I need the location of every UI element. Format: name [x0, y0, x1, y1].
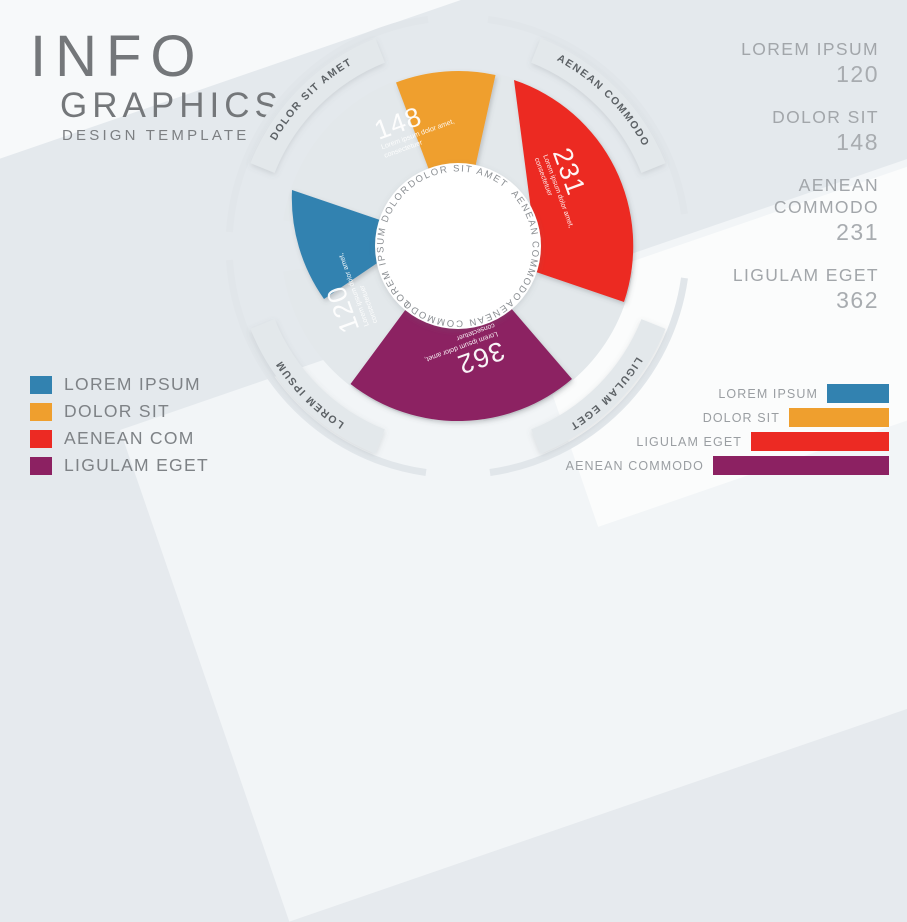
- value-name: LOREM IPSUM: [664, 38, 879, 60]
- bar-legend-label: AENEAN COMMODO: [566, 459, 704, 473]
- bar-legend: LOREM IPSUM DOLOR SIT LIGULAM EGET AENEA…: [599, 384, 889, 480]
- value-item-dolor-sit: DOLOR SIT 148: [664, 106, 879, 156]
- bar-legend-item-lorem-ipsum[interactable]: LOREM IPSUM: [599, 384, 889, 403]
- infographic-canvas: INFO GRAPHICS DESIGN TEMPLATE: [0, 0, 907, 500]
- value-list: LOREM IPSUM 120 DOLOR SIT 148 AENEAN COM…: [664, 38, 879, 332]
- legend-swatch-blue: [30, 376, 52, 394]
- bar-legend-bar-red: [751, 432, 889, 451]
- value-name: DOLOR SIT: [664, 106, 879, 128]
- legend-label: AENEAN COM: [64, 428, 195, 449]
- value-number: 148: [664, 128, 879, 156]
- legend-label: DOLOR SIT: [64, 401, 170, 422]
- bar-legend-label: LIGULAM EGET: [636, 435, 742, 449]
- value-item-aenean-commodo: AENEAN COMMODO 231: [664, 174, 879, 246]
- bar-legend-bar-orange: [789, 408, 889, 427]
- legend-item-aenean-com[interactable]: AENEAN COM: [30, 428, 209, 449]
- bar-legend-item-aenean-commodo[interactable]: AENEAN COMMODO: [599, 456, 889, 475]
- bar-legend-label: DOLOR SIT: [703, 411, 780, 425]
- legend-label: LIGULAM EGET: [64, 455, 209, 476]
- bar-legend-bar-blue: [827, 384, 889, 403]
- legend-swatch-purple: [30, 457, 52, 475]
- bar-legend-item-dolor-sit[interactable]: DOLOR SIT: [599, 408, 889, 427]
- legend-swatch-red: [30, 430, 52, 448]
- legend: LOREM IPSUM DOLOR SIT AENEAN COM LIGULAM…: [30, 374, 209, 482]
- legend-label: LOREM IPSUM: [64, 374, 201, 395]
- bar-legend-item-ligulam-eget[interactable]: LIGULAM EGET: [599, 432, 889, 451]
- legend-swatch-orange: [30, 403, 52, 421]
- value-name: LIGULAM EGET: [664, 264, 879, 286]
- legend-item-lorem-ipsum[interactable]: LOREM IPSUM: [30, 374, 209, 395]
- legend-item-ligulam-eget[interactable]: LIGULAM EGET: [30, 455, 209, 476]
- legend-item-dolor-sit[interactable]: DOLOR SIT: [30, 401, 209, 422]
- bar-legend-label: LOREM IPSUM: [718, 387, 818, 401]
- value-name: AENEAN: [664, 174, 879, 196]
- value-number: 362: [664, 286, 879, 314]
- value-number: 231: [664, 218, 879, 246]
- value-item-ligulam-eget: LIGULAM EGET 362: [664, 264, 879, 314]
- value-item-lorem-ipsum: LOREM IPSUM 120: [664, 38, 879, 88]
- value-name-line2: COMMODO: [664, 196, 879, 218]
- value-number: 120: [664, 60, 879, 88]
- bar-legend-bar-purple: [713, 456, 889, 475]
